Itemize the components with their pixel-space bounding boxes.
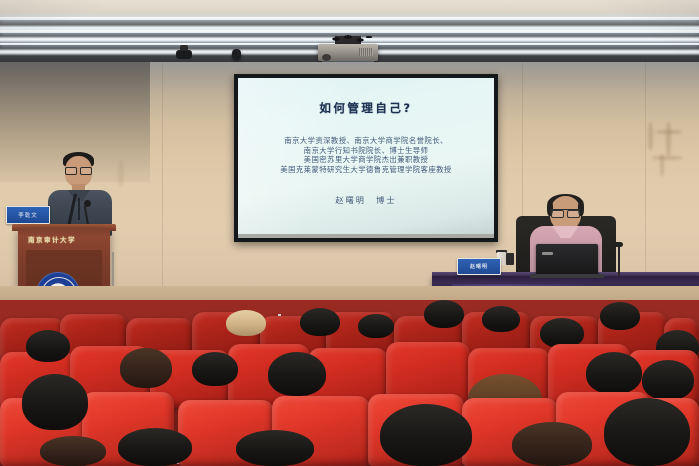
table-microphone-stand [618,246,620,276]
projector-lens-icon [322,54,331,61]
wall-panel-seam [162,62,163,292]
wall-panel-seam [645,62,646,292]
laptop-logo-icon [542,252,553,255]
glasses-icon [65,167,92,173]
audience-member-head [424,300,464,328]
audience-member-head [512,422,592,466]
audience-member-head [380,404,472,466]
table-microphone-icon [612,242,623,247]
projection-screen: 如何管理自己? 南京大学资深教授、南京大学商学院名誉院长、 南京大学行知书院院长… [234,74,498,242]
audience-member-head [192,352,238,386]
laptop-base [530,274,604,278]
audience-member-head [600,302,640,330]
audience-member-head [482,306,520,332]
shirt-placket [78,198,80,220]
audience-member-head [300,308,340,336]
screen-bezel-bottom [238,234,494,238]
slide-body-line: 南京大学资深教授、南京大学商学院名誉院长、 [238,136,494,146]
audience-member-head [40,436,106,466]
projector-vent [359,48,373,56]
audience-member-head [118,428,192,466]
slide-body: 南京大学资深教授、南京大学商学院名誉院长、 南京大学行知书院院长、博士生导师 美… [238,136,494,174]
lecture-hall-photo: 如何管理自己? 南京大学资深教授、南京大学商学院名誉院长、 南京大学行知书院院长… [0,0,699,466]
ceiling-light-strip [0,17,699,20]
nameplate-head-table: 赵曙明 [457,258,501,275]
podium-speaker [48,148,112,234]
audience-member-head [226,310,266,336]
wall-mark [652,156,682,160]
audience-member-head [22,374,88,430]
audience-member-head [26,330,70,362]
ceiling-spotlight-icon [232,49,241,60]
laptop[interactable] [536,244,598,276]
audience-member-head [604,398,690,466]
slide-body-line: 美国密苏里大学商学院杰出兼职教授 [238,155,494,165]
ceiling-camera-icon [176,50,192,59]
wall-mark [118,160,124,186]
audience-member-head [268,352,326,396]
projection-screen-surface: 如何管理自己? 南京大学资深教授、南京大学商学院名誉院长、 南京大学行知书院院长… [238,78,494,234]
glasses-icon [550,209,581,216]
audience-member-head [120,348,172,388]
slide-author: 赵曙明 博士 [238,194,494,206]
slide-title: 如何管理自己? [238,100,494,116]
ceiling-projector [318,44,378,61]
wall-mark [660,154,664,176]
slide-body-line: 南京大学行知书院院长、博士生导师 [238,146,494,156]
audience-member-head [586,352,642,394]
nameplate-podium: 李乾文 [6,206,50,224]
audience-member-head [642,360,694,400]
podium-venue-text: 南京审计大学 [16,233,88,245]
wall-mark [648,122,653,150]
audience-member-head [358,314,394,338]
wall-mark [666,122,671,156]
slide-body-line: 美国克莱蒙特研究生大学德鲁克管理学院客座教授 [238,165,494,175]
audience-member-head [236,430,314,466]
dark-cup [506,253,514,265]
